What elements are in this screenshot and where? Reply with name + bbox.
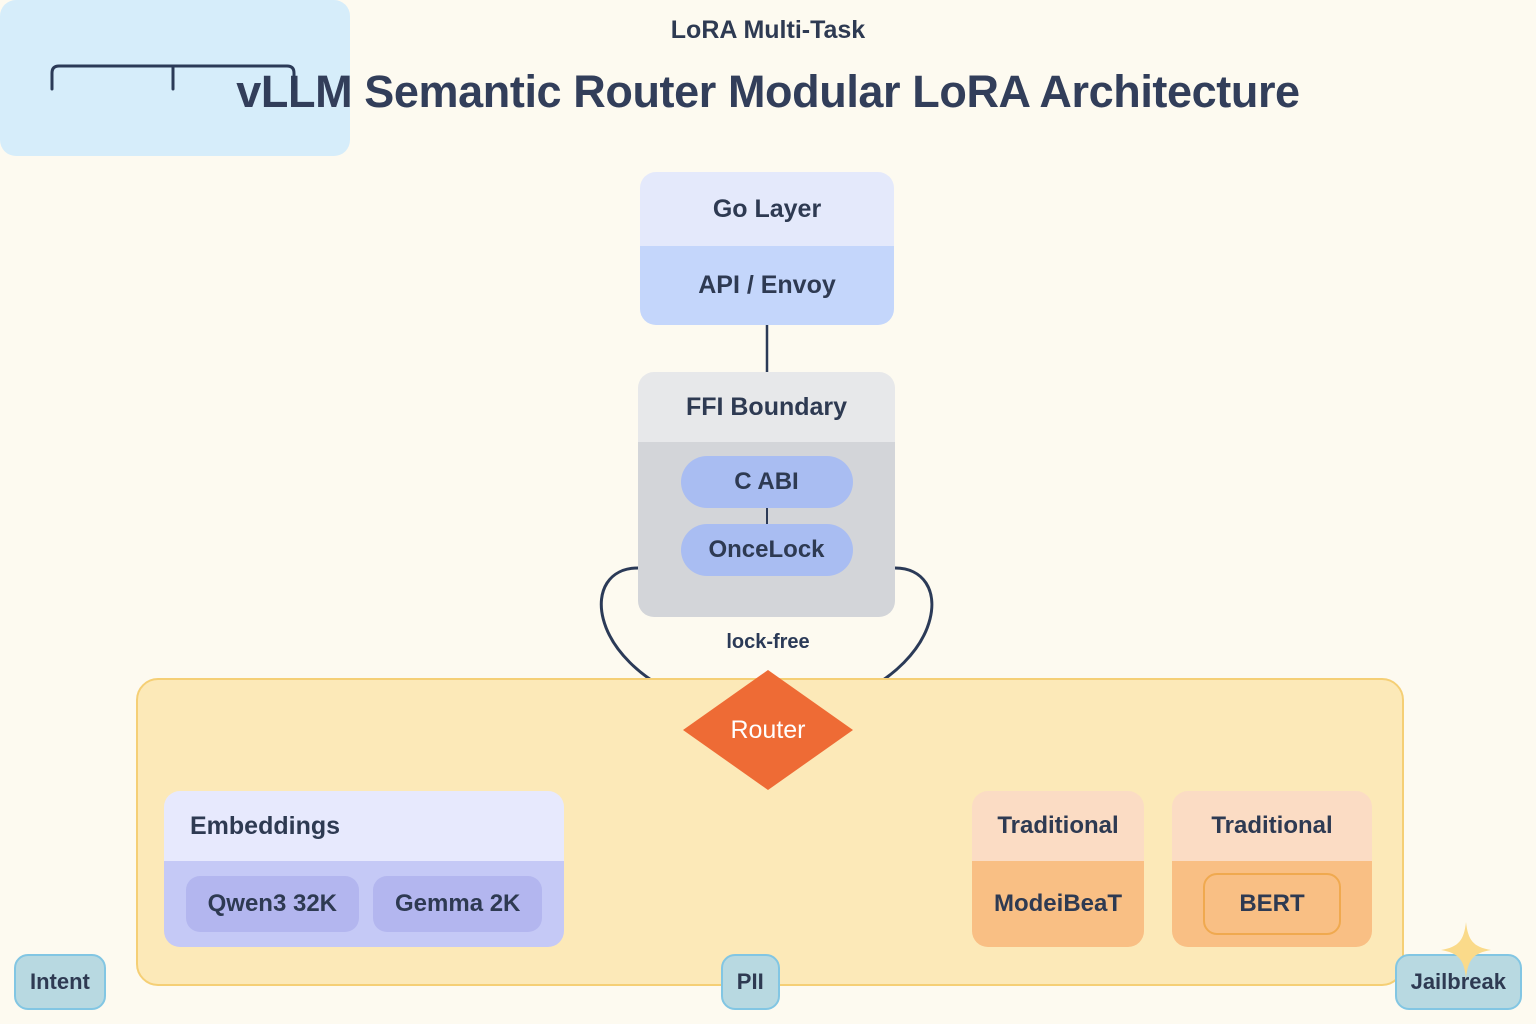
node-lora-multi-task[interactable]: LoRA Multi-Task Intent PII Jailbreak [0,0,350,156]
node-ffi-boundary[interactable]: FFI Boundary C ABI OnceLock [638,372,895,617]
ffi-pill-c-abi[interactable]: C ABI [681,456,853,508]
ffi-boundary-body: C ABI OnceLock [638,442,895,617]
lora-bracket-connector [44,63,302,91]
traditional-1-header: Traditional [972,791,1144,861]
diagram-canvas: vLLM Semantic Router Modular LoRA Archit… [0,0,1536,1024]
node-traditional-bert[interactable]: Traditional BERT [1172,791,1372,947]
edge-label-lock-free: lock-free [0,631,1536,654]
sparkle-icon [1441,922,1491,978]
traditional-2-pill-bert[interactable]: BERT [1203,873,1340,935]
ffi-pill-connector [766,508,768,524]
lora-pill-pii[interactable]: PII [721,954,780,1010]
traditional-2-header: Traditional [1172,791,1372,861]
node-go-layer[interactable]: Go Layer API / Envoy [640,172,894,325]
lora-pill-intent[interactable]: Intent [14,954,106,1010]
go-layer-body: API / Envoy [640,246,894,325]
node-embeddings[interactable]: Embeddings Qwen3 32K Gemma 2K [164,791,564,947]
embeddings-body: Qwen3 32K Gemma 2K [164,861,564,947]
embeddings-pill-gemma[interactable]: Gemma 2K [373,876,542,932]
lora-pill-group: Intent PII Jailbreak [14,954,1522,1010]
embeddings-pill-qwen3[interactable]: Qwen3 32K [186,876,359,932]
lora-header: LoRA Multi-Task [0,16,1536,45]
embeddings-header: Embeddings [164,791,564,861]
ffi-boundary-header: FFI Boundary [638,372,895,442]
router-label: Router [683,670,853,790]
go-layer-header: Go Layer [640,172,894,246]
ffi-pill-oncelock[interactable]: OnceLock [681,524,853,576]
traditional-1-body: ModeiBeaT [972,861,1144,947]
node-router[interactable]: Router [683,670,853,790]
node-traditional-modernbert[interactable]: Traditional ModeiBeaT [972,791,1144,947]
traditional-2-body: BERT [1172,861,1372,947]
